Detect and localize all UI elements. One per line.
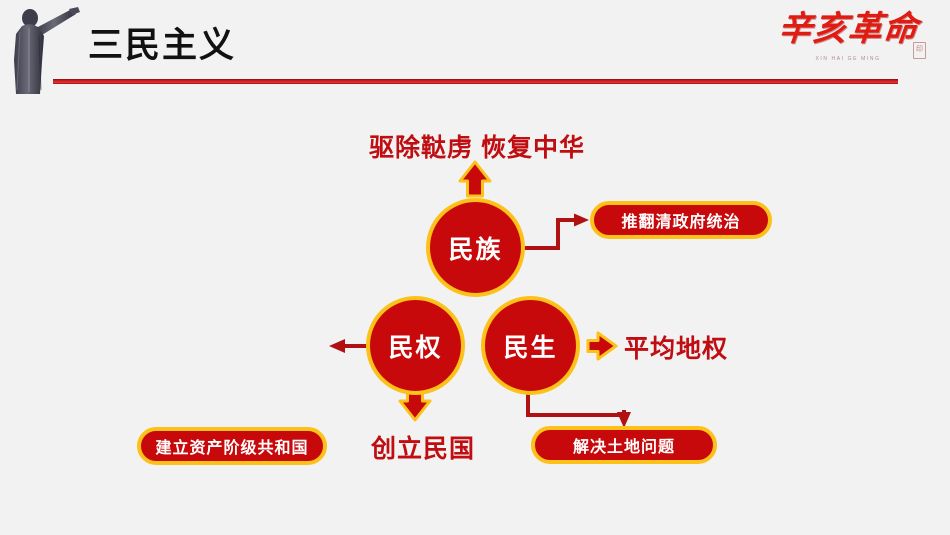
node-minzu[interactable]: 民族 (426, 198, 525, 297)
arrow-minzu-overthrow-icon (525, 214, 589, 249)
brand-pinyin-text: XIN HAI GE MING (768, 56, 928, 62)
xinhai-revolution-logo: 辛亥革命 XIN HAI GE MING 印 (768, 4, 928, 76)
slide-header: 三民主义 辛亥革命 XIN HAI GE MING 印 (0, 0, 950, 100)
arrow-up-minzu-icon (460, 162, 490, 196)
pill-establish-bourgeois-republic[interactable]: 建立资产阶级共和国 (137, 427, 327, 465)
arrow-right-minsheng-icon (588, 333, 616, 359)
node-minsheng[interactable]: 民生 (481, 296, 580, 395)
brand-title-text: 辛亥革命 (765, 4, 930, 54)
node-minquan[interactable]: 民权 (366, 296, 465, 395)
label-expel-barbarians: 驱除鞑虏 恢复中华 (369, 128, 585, 164)
arrow-minquan-republic-icon (329, 339, 366, 353)
arrow-minsheng-land-icon (528, 392, 631, 428)
connector-layer (0, 100, 950, 535)
label-found-republic: 创立民国 (371, 429, 475, 465)
seal-stamp-icon: 印 (913, 42, 926, 59)
header-divider-rule (53, 79, 898, 84)
pill-solve-land-problem[interactable]: 解决土地问题 (531, 426, 717, 464)
three-principles-diagram: 驱除鞑虏 恢复中华 平均地权 创立民国 推翻清政府统治 建立资产阶级共和国 解决… (0, 100, 950, 535)
pill-overthrow-qing-rule[interactable]: 推翻清政府统治 (590, 201, 772, 239)
label-equalize-land-rights: 平均地权 (624, 329, 728, 365)
page-title: 三民主义 (88, 24, 236, 68)
